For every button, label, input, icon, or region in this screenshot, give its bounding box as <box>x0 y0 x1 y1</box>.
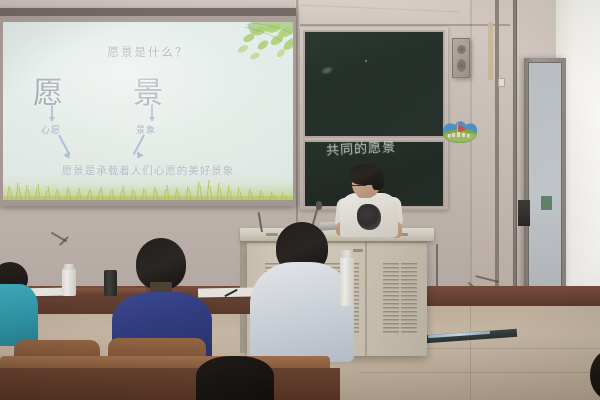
presenter-hair-side <box>372 171 384 190</box>
lectern-handle-2[interactable] <box>353 249 363 252</box>
speaker-woofer-icon <box>457 59 466 72</box>
wall-switch <box>498 78 505 87</box>
grass-silhouette-icon <box>3 176 293 200</box>
audience-member-foreground <box>196 356 274 400</box>
speaker-tweeter-icon <box>457 45 466 54</box>
floor-tile-seam-2 <box>360 372 600 373</box>
podium-power-cable <box>436 244 438 290</box>
lectern-vent-5 <box>383 263 399 335</box>
audience-member-cyan-shirt <box>0 284 38 346</box>
wall-seam-horizontal <box>300 24 510 26</box>
projected-slide: 愿景是什么？ 愿 景 心愿 景象 愿景是承载着人们心愿的美好景象 <box>3 22 293 200</box>
slide-diagonal-arrowhead-right <box>134 151 144 160</box>
classroom-lecture-photo: 愿景是什么？ 愿 景 心愿 景象 愿景是承载着人们心愿的美好景象 <box>0 0 600 400</box>
door-track <box>513 0 517 330</box>
wall-seam-short <box>298 0 299 26</box>
slide-diagonal-arrowhead-left <box>63 151 73 160</box>
slide-arrowhead-right <box>149 117 155 122</box>
lectern-seam-top <box>247 241 427 243</box>
slide-title: 愿景是什么？ <box>3 44 293 60</box>
wall-sticker-decoration <box>440 118 480 146</box>
thermos-bottle-dark[interactable] <box>104 270 117 296</box>
projector-screen: 愿景是什么？ 愿 景 心愿 景象 愿景是承载着人们心愿的美好景象 <box>0 8 296 206</box>
wall-corner-seam <box>470 0 472 300</box>
thermos-cap-white <box>64 264 74 270</box>
screen-roller-bar <box>0 8 296 16</box>
presenter-tshirt-graphic <box>357 204 381 230</box>
blackboard-upper-panel <box>303 30 445 138</box>
blackboard-chalk-text: 共同的愿景 <box>326 136 397 159</box>
slide-arrowhead-left <box>49 117 55 122</box>
wall-conduit <box>495 0 499 300</box>
audience-member-light-shirt <box>250 262 354 362</box>
door-closer-mechanism <box>518 200 530 226</box>
chalk-dot <box>365 60 367 62</box>
wall-conduit-block <box>488 22 493 80</box>
floor-tile-seam-3 <box>470 306 471 400</box>
slide-mid-label-right: 景象 <box>136 123 156 136</box>
thermos-cap-white-2 <box>341 250 353 258</box>
microphone-head-icon[interactable] <box>316 201 322 210</box>
lectern-top-latch-1[interactable] <box>266 233 278 236</box>
slide-big-char-right: 景 <box>133 68 163 112</box>
door-label-sticker <box>541 196 552 210</box>
wall-speaker <box>452 38 470 78</box>
lectern-seam-v2 <box>365 241 367 356</box>
slide-big-char-left: 愿 <box>33 68 63 112</box>
thermos-bottle-white-2[interactable] <box>340 256 354 306</box>
lectern-vent-6 <box>401 263 417 335</box>
desk-row-back-face <box>0 368 340 400</box>
thermos-bottle-white[interactable] <box>62 268 76 296</box>
